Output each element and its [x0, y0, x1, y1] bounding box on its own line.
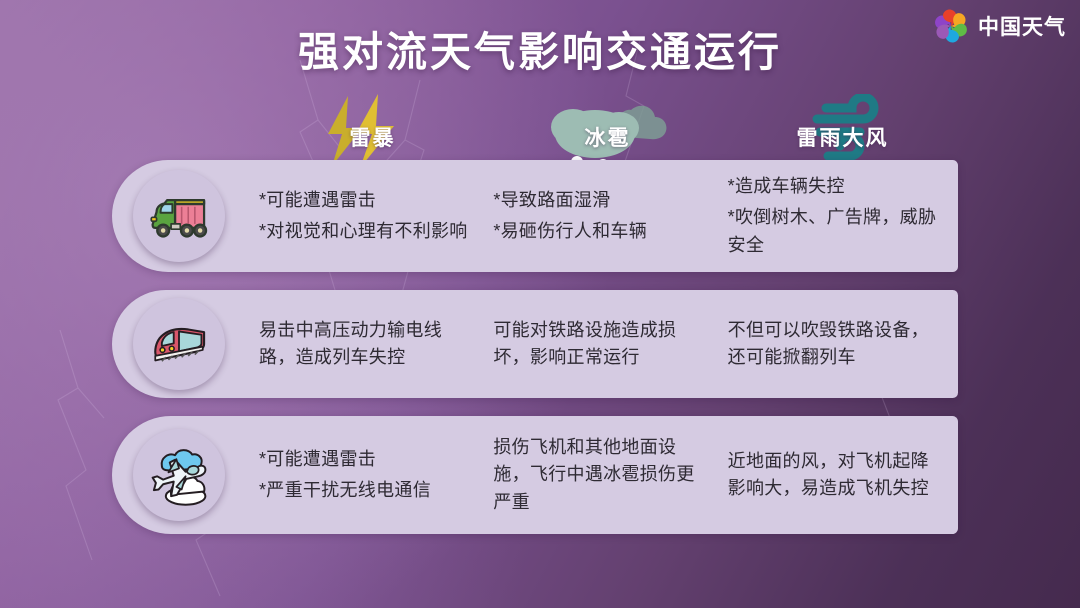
column-header-label: 冰雹 — [585, 122, 631, 152]
cell-thunder-gale: 不但可以吹毁铁路设备，还可能掀翻列车 — [724, 317, 958, 372]
infographic-poster: 中国天气 强对流天气影响交通运行 雷暴 冰雹 — [0, 0, 1080, 608]
cell-hail: 损伤飞机和其他地面设施，飞行中遇冰雹损伤更严重 — [489, 434, 723, 516]
column-header-label: 雷雨大风 — [797, 122, 889, 152]
cell-line: 损伤飞机和其他地面设施，飞行中遇冰雹损伤更严重 — [493, 434, 709, 516]
page-title: 强对流天气影响交通运行 — [0, 18, 1080, 78]
cell-line: 易击中高压动力输电线路，造成列车失控 — [259, 317, 475, 372]
cell-line: *易砸伤行人和车辆 — [493, 218, 709, 245]
row-icon-badge — [133, 170, 225, 262]
row-cells: 易击中高压动力输电线路，造成列车失控 可能对铁路设施造成损坏，影响正常运行 不但… — [255, 290, 958, 398]
row-icon-badge — [133, 429, 225, 521]
cell-line: *对视觉和心理有不利影响 — [259, 218, 475, 245]
column-header-thunderstorm: 雷暴 — [255, 100, 490, 162]
table-row: 易击中高压动力输电线路，造成列车失控 可能对铁路设施造成损坏，影响正常运行 不但… — [112, 290, 958, 398]
cell-line: *导致路面湿滑 — [493, 187, 709, 214]
cell-thunderstorm: *可能遭遇雷击 *对视觉和心理有不利影响 — [255, 187, 489, 246]
column-headers: 雷暴 冰雹 雷雨大风 — [255, 100, 960, 162]
cell-hail: *导致路面湿滑 *易砸伤行人和车辆 — [489, 187, 723, 246]
train-icon — [146, 311, 212, 377]
cell-thunder-gale: 近地面的风，对飞机起降影响大，易造成飞机失控 — [724, 448, 958, 503]
cell-line: *造成车辆失控 — [728, 173, 944, 200]
table-row: *可能遭遇雷击 *严重干扰无线电通信 损伤飞机和其他地面设施，飞行中遇冰雹损伤更… — [112, 416, 958, 534]
cell-line: 可能对铁路设施造成损坏，影响正常运行 — [493, 317, 709, 372]
cell-line: 不但可以吹毁铁路设备，还可能掀翻列车 — [728, 317, 944, 372]
impact-table: *可能遭遇雷击 *对视觉和心理有不利影响 *导致路面湿滑 *易砸伤行人和车辆 *… — [112, 160, 958, 552]
column-header-hail: 冰雹 — [490, 100, 725, 162]
cell-thunderstorm: 易击中高压动力输电线路，造成列车失控 — [255, 317, 489, 372]
cell-line: *吹倒树木、广告牌，威胁安全 — [728, 204, 944, 259]
column-header-label: 雷暴 — [350, 122, 396, 152]
truck-icon — [146, 183, 212, 249]
row-icon-badge — [133, 298, 225, 390]
cell-line: *严重干扰无线电通信 — [259, 477, 475, 504]
cell-line: 近地面的风，对飞机起降影响大，易造成飞机失控 — [728, 448, 944, 503]
column-header-thunder-gale: 雷雨大风 — [725, 100, 960, 162]
cell-line: *可能遭遇雷击 — [259, 446, 475, 473]
airplane-cloud-icon — [146, 442, 212, 508]
cell-thunderstorm: *可能遭遇雷击 *严重干扰无线电通信 — [255, 446, 489, 505]
cell-line: *可能遭遇雷击 — [259, 187, 475, 214]
table-row: *可能遭遇雷击 *对视觉和心理有不利影响 *导致路面湿滑 *易砸伤行人和车辆 *… — [112, 160, 958, 272]
cell-thunder-gale: *造成车辆失控 *吹倒树木、广告牌，威胁安全 — [724, 173, 958, 259]
cell-hail: 可能对铁路设施造成损坏，影响正常运行 — [489, 317, 723, 372]
row-cells: *可能遭遇雷击 *严重干扰无线电通信 损伤飞机和其他地面设施，飞行中遇冰雹损伤更… — [255, 416, 958, 534]
row-cells: *可能遭遇雷击 *对视觉和心理有不利影响 *导致路面湿滑 *易砸伤行人和车辆 *… — [255, 160, 958, 272]
